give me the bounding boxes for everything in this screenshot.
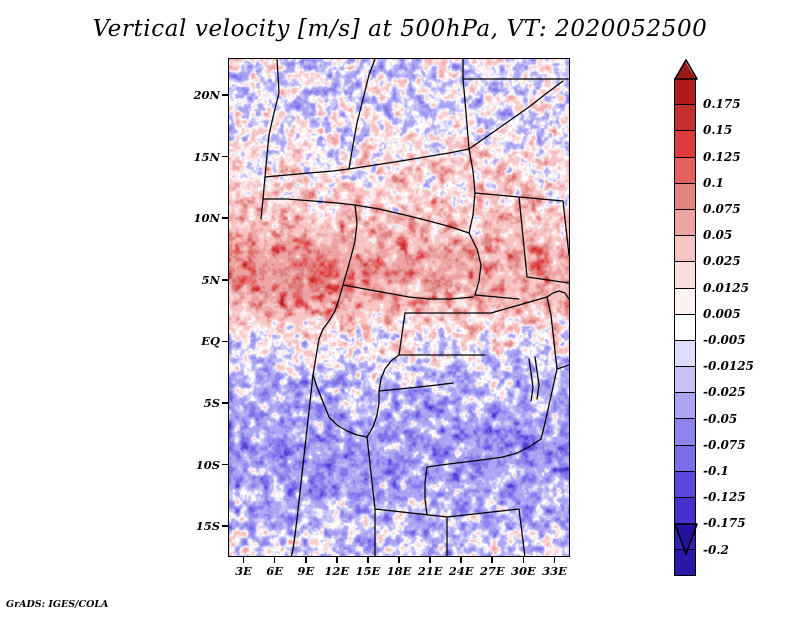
colorbar-tick-label: 0.175 bbox=[703, 97, 741, 111]
y-axis-label: EQ bbox=[182, 334, 220, 348]
x-axis-tick bbox=[491, 557, 493, 563]
x-axis-label: 24E bbox=[449, 564, 474, 578]
y-axis-label: 15S bbox=[182, 519, 220, 533]
x-axis-tick bbox=[274, 557, 276, 563]
colorbar-tick-label: 0.0125 bbox=[703, 281, 749, 295]
x-axis-tick bbox=[429, 557, 431, 563]
colorbar-segment bbox=[674, 340, 696, 366]
vertical-velocity-field bbox=[229, 59, 570, 557]
colorbar-tick-label: -0.2 bbox=[703, 543, 729, 557]
colorbar-tick-label: 0.1 bbox=[703, 176, 724, 190]
colorbar-segment bbox=[674, 445, 696, 471]
colorbar-segment bbox=[674, 104, 696, 130]
colorbar-segment bbox=[674, 314, 696, 340]
y-axis-tick bbox=[222, 279, 228, 281]
colorbar-tick-label: -0.075 bbox=[703, 438, 746, 452]
colorbar bbox=[674, 78, 696, 576]
colorbar-tick-label: 0.125 bbox=[703, 150, 741, 164]
grads-plot-page: Vertical velocity [m/s] at 500hPa, VT: 2… bbox=[0, 0, 800, 618]
y-axis-label: 5N bbox=[182, 273, 220, 287]
colorbar-tick-label: 0.075 bbox=[703, 202, 741, 216]
x-axis-label: 9E bbox=[297, 564, 314, 578]
colorbar-tick-label: -0.1 bbox=[703, 464, 729, 478]
colorbar-tick-label: -0.125 bbox=[703, 490, 746, 504]
colorbar-segment bbox=[674, 130, 696, 156]
y-axis-tick bbox=[222, 464, 228, 466]
map-plot-area bbox=[228, 58, 570, 557]
colorbar-segment bbox=[674, 497, 696, 523]
y-axis-label: 10S bbox=[182, 458, 220, 472]
colorbar-arrow-top bbox=[674, 61, 696, 79]
colorbar-segment bbox=[674, 418, 696, 444]
x-axis-tick bbox=[460, 557, 462, 563]
x-axis-tick bbox=[243, 557, 245, 563]
y-axis-label: 10N bbox=[182, 211, 220, 225]
y-axis-tick bbox=[222, 341, 228, 343]
y-axis-label: 15N bbox=[182, 150, 220, 164]
colorbar-segment bbox=[674, 471, 696, 497]
colorbar-segment bbox=[674, 157, 696, 183]
colorbar-segment bbox=[674, 549, 696, 575]
y-axis-label: 20N bbox=[182, 88, 220, 102]
x-axis-label: 30E bbox=[511, 564, 536, 578]
colorbar-segment bbox=[674, 235, 696, 261]
x-axis-label: 33E bbox=[542, 564, 567, 578]
y-axis-tick bbox=[222, 217, 228, 219]
colorbar-tick-label: 0.15 bbox=[703, 123, 732, 137]
y-axis-tick bbox=[222, 156, 228, 158]
colorbar-tick-label: 0.005 bbox=[703, 307, 741, 321]
x-axis-label: 15E bbox=[356, 564, 381, 578]
colorbar-tick-label: -0.0125 bbox=[703, 359, 754, 373]
x-axis-tick bbox=[336, 557, 338, 563]
colorbar-segment bbox=[674, 288, 696, 314]
colorbar-tick-label: -0.05 bbox=[703, 412, 737, 426]
y-axis-tick bbox=[222, 525, 228, 527]
x-axis-label: 3E bbox=[235, 564, 252, 578]
page-title: Vertical velocity [m/s] at 500hPa, VT: 2… bbox=[0, 16, 800, 42]
colorbar-segment bbox=[674, 209, 696, 235]
colorbar-segment bbox=[674, 366, 696, 392]
x-axis-label: 21E bbox=[418, 564, 443, 578]
colorbar-tick-label: -0.025 bbox=[703, 385, 746, 399]
colorbar-tick-label: 0.025 bbox=[703, 254, 741, 268]
x-axis-label: 18E bbox=[387, 564, 412, 578]
x-axis-tick bbox=[523, 557, 525, 563]
x-axis-label: 6E bbox=[266, 564, 283, 578]
colorbar-tick-label: -0.175 bbox=[703, 516, 746, 530]
colorbar-segment bbox=[674, 392, 696, 418]
x-axis-tick bbox=[305, 557, 307, 563]
x-axis-tick bbox=[367, 557, 369, 563]
colorbar-tick-label: -0.005 bbox=[703, 333, 746, 347]
y-axis-tick bbox=[222, 402, 228, 404]
footer-credit: GrADS: IGES/COLA bbox=[6, 599, 108, 610]
x-axis-label: 12E bbox=[324, 564, 349, 578]
x-axis-label: 27E bbox=[480, 564, 505, 578]
x-axis-tick bbox=[554, 557, 556, 563]
y-axis-tick bbox=[222, 94, 228, 96]
colorbar-segment bbox=[674, 78, 696, 104]
y-axis-label: 5S bbox=[182, 396, 220, 410]
x-axis-tick bbox=[398, 557, 400, 563]
colorbar-segment bbox=[674, 261, 696, 287]
colorbar-segment bbox=[674, 183, 696, 209]
colorbar-arrow-bottom bbox=[674, 523, 696, 553]
colorbar-tick-label: 0.05 bbox=[703, 228, 732, 242]
